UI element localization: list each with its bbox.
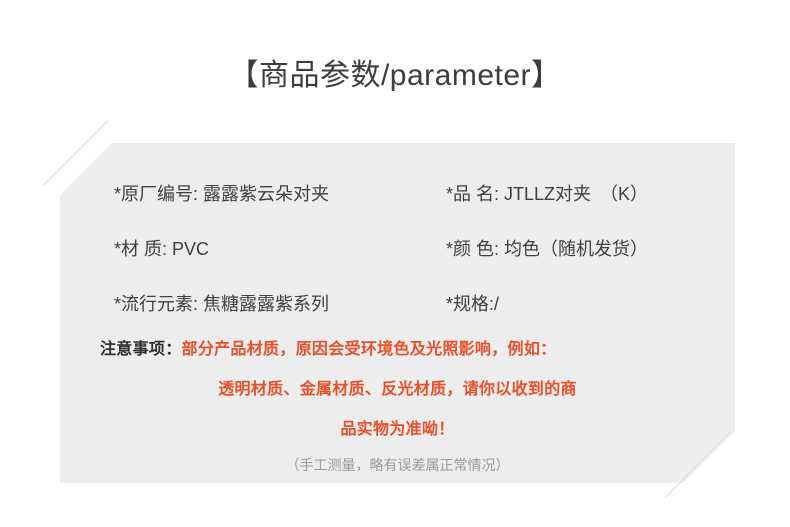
parameter-grid: *原厂编号: 露露紫云朵对夹 *品 名: JTLLZ对夹 （K） *材 质: P…	[60, 163, 735, 323]
notice-text-1: 部分产品材质，原因会受环境色及光照影响，例如：	[182, 341, 557, 358]
parameter-color: *颜 色: 均色（随机发货）	[446, 235, 648, 263]
parameter-factory-code: *原厂编号: 露露紫云朵对夹	[114, 180, 329, 208]
notice-block: 注意事项：部分产品材质，原因会受环境色及光照影响，例如： 透明材质、金属材质、反…	[60, 330, 735, 478]
parameter-product-name: *品 名: JTLLZ对夹 （K）	[446, 180, 648, 208]
parameter-row: *材 质: PVC *颜 色: 均色（随机发货）	[60, 235, 735, 263]
notice-label: 注意事项：	[100, 341, 182, 358]
parameter-trend-element: *流行元素: 焦糖露露紫系列	[114, 290, 329, 318]
parameter-row: *原厂编号: 露露紫云朵对夹 *品 名: JTLLZ对夹 （K）	[60, 180, 735, 208]
measurement-note: （手工测量，略有误差属正常情况）	[60, 452, 735, 478]
parameter-row: *流行元素: 焦糖露露紫系列 *规格:/	[60, 290, 735, 318]
notice-text-3: 品实物为准呦！	[340, 421, 454, 438]
notice-line-1: 注意事项：部分产品材质，原因会受环境色及光照影响，例如：	[60, 330, 735, 370]
notice-line-3: 品实物为准呦！	[60, 410, 735, 450]
notice-line-2: 透明材质、金属材质、反光材质，请你以收到的商	[60, 370, 735, 410]
page-title: 【商品参数/parameter】	[228, 56, 561, 96]
product-parameter-page: 【商品参数/parameter】 *原厂编号: 露露紫云朵对夹 *品 名: JT…	[0, 0, 790, 527]
parameter-material: *材 质: PVC	[114, 235, 209, 263]
notice-text-2: 透明材质、金属材质、反光材质，请你以收到的商	[218, 381, 577, 398]
parameter-specification: *规格:/	[446, 290, 499, 318]
page-title-container: 【商品参数/parameter】	[0, 56, 790, 96]
